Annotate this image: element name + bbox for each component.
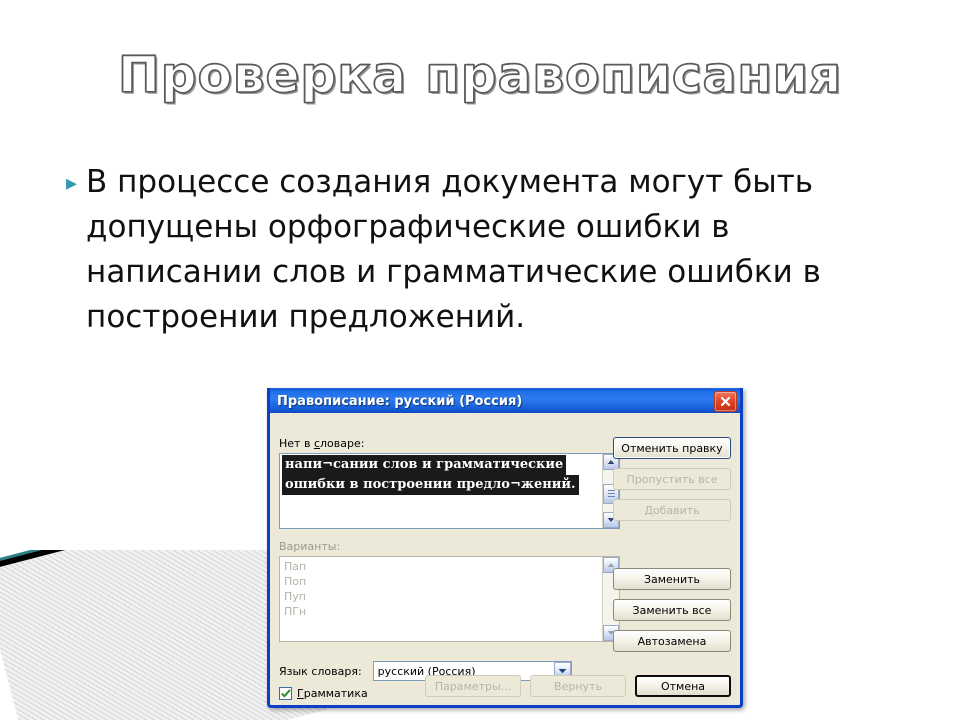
not-in-dictionary-textbox[interactable]: напи¬сании слов и грамматические ошибки …: [279, 453, 620, 529]
dialog-titlebar[interactable]: Правописание: русский (Россия): [270, 388, 740, 413]
spelling-dialog: Правописание: русский (Россия) Нет в сло…: [267, 388, 743, 708]
cancel-button[interactable]: Отмена: [635, 675, 731, 697]
textbox-content[interactable]: напи¬сании слов и грамматические ошибки …: [280, 454, 602, 528]
bullet-text: В процессе создания документа могут быть…: [86, 160, 876, 340]
not-in-dictionary-label: Нет в словаре:: [279, 437, 620, 450]
bullet-list-item: ▸ В процессе создания документа могут бы…: [66, 160, 926, 340]
dialog-bottom-buttons: Параметры... Вернуть Отмена: [425, 675, 737, 697]
suggestions-label: Варианты:: [279, 540, 620, 553]
suggestions-listbox[interactable]: Пап Поп Пуп ПГн: [279, 556, 620, 642]
undo-edit-button[interactable]: Отменить правку: [613, 437, 731, 459]
replace-button[interactable]: Заменить: [613, 568, 731, 590]
dialog-left-column: Нет в словаре: напи¬сании слов и граммат…: [279, 437, 620, 642]
close-icon[interactable]: [714, 391, 737, 412]
highlighted-text-line: напи¬сании слов и грамматические: [282, 455, 566, 475]
highlighted-text-line: ошибки в построении предло¬жений.: [282, 475, 579, 495]
label-part-after: ловаре:: [320, 437, 364, 450]
action-buttons-group-2: Заменить Заменить все Автозамена: [613, 568, 731, 661]
grammar-label-rest: рамматика: [304, 687, 368, 700]
dialog-body: Нет в словаре: напи¬сании слов и граммат…: [270, 413, 740, 705]
add-button: Добавить: [613, 499, 731, 521]
presentation-slide: Проверка правописания ▸ В процессе созда…: [0, 0, 960, 720]
list-item[interactable]: Пуп: [284, 589, 598, 604]
dialog-title: Правописание: русский (Россия): [277, 394, 714, 409]
list-item[interactable]: Пап: [284, 559, 598, 574]
list-item[interactable]: Поп: [284, 574, 598, 589]
revert-button: Вернуть: [530, 675, 626, 697]
bullet-marker-icon: ▸: [66, 160, 77, 206]
grammar-checkbox-row[interactable]: Грамматика: [279, 687, 368, 700]
label-part-before: Нет в: [279, 437, 314, 450]
options-button: Параметры...: [425, 675, 521, 697]
skip-all-button: Пропустить все: [613, 468, 731, 490]
autocorrect-button[interactable]: Автозамена: [613, 630, 731, 652]
suggestions-list[interactable]: Пап Поп Пуп ПГн: [280, 557, 602, 641]
slide-body: ▸ В процессе создания документа могут бы…: [66, 160, 926, 340]
page-title: Проверка правописания: [0, 46, 960, 104]
list-item[interactable]: ПГн: [284, 604, 598, 619]
grammar-checkbox-label: Грамматика: [297, 687, 368, 700]
dictionary-language-label: Язык словаря:: [279, 665, 362, 678]
grammar-checkbox[interactable]: [279, 687, 292, 700]
replace-all-button[interactable]: Заменить все: [613, 599, 731, 621]
action-buttons-group-1: Отменить правку Пропустить все Добавить: [613, 437, 731, 530]
